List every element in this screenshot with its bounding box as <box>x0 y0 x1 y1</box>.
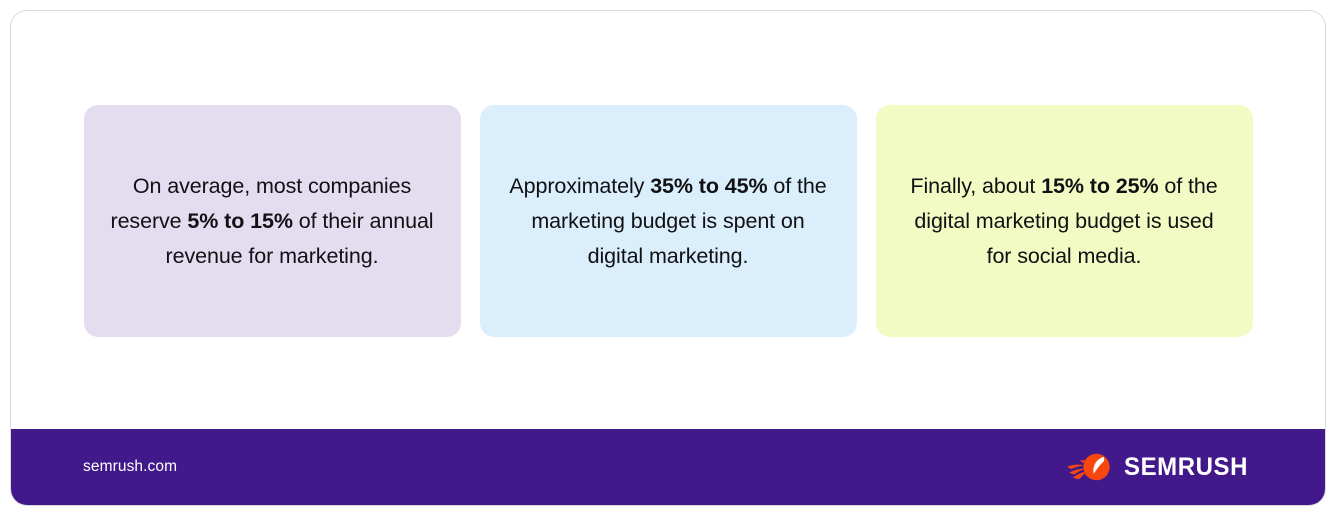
footer-bar: semrush.com SEMRUSH <box>11 429 1325 505</box>
stat-card-2-text: Approximately 35% to 45% of the marketin… <box>504 169 833 274</box>
stat-card-1-text: On average, most companies reserve 5% to… <box>108 169 437 274</box>
footer-website-url[interactable]: semrush.com <box>83 458 177 476</box>
semrush-wordmark: SEMRUSH <box>1124 455 1248 480</box>
semrush-comet-icon <box>1067 452 1111 482</box>
infographic-container: On average, most companies reserve 5% to… <box>10 10 1326 506</box>
stat-cards-row: On average, most companies reserve 5% to… <box>11 11 1325 431</box>
stat-card-3: Finally, about 15% to 25% of the digital… <box>876 105 1253 337</box>
stat-card-3-text: Finally, about 15% to 25% of the digital… <box>900 169 1229 274</box>
semrush-logo[interactable]: SEMRUSH <box>1067 452 1253 482</box>
stat-card-2: Approximately 35% to 45% of the marketin… <box>480 105 857 337</box>
stat-card-1: On average, most companies reserve 5% to… <box>84 105 461 337</box>
